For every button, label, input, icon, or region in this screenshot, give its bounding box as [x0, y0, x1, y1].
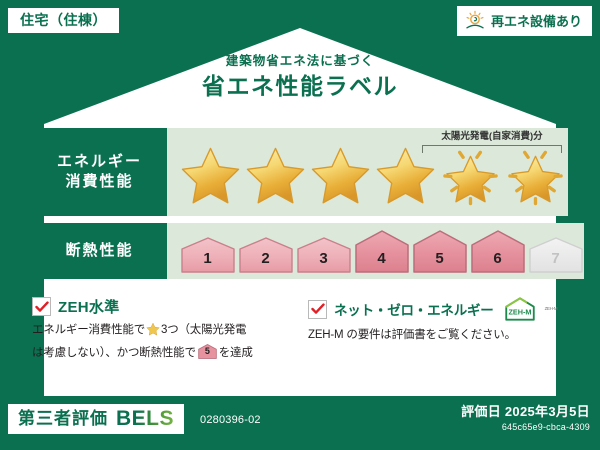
title-main: 省エネ性能ラベル	[0, 72, 600, 102]
check-icon	[311, 303, 325, 315]
dwelling-type-tag: 住宅（住棟）	[8, 8, 119, 33]
house-badge-number: 5	[198, 345, 217, 359]
solar-generation-bracket: 太陽光発電(自家消費)分	[422, 132, 562, 153]
house-level-7: 7	[527, 236, 584, 274]
house-level-number: 4	[353, 250, 410, 267]
house-level-4: 4	[353, 229, 410, 274]
star-rating	[167, 144, 567, 206]
house-level-3: 3	[295, 236, 352, 274]
net-zero-energy-column: ネット・ゼロ・エネルギー ZEH-M ZEH-M ZEH-M の要件は評価書をご…	[292, 296, 568, 363]
evaluation-info: 評価日 2025年3月5日 645c65e9-cbca-4309	[461, 404, 590, 434]
house-level-number: 3	[295, 250, 352, 267]
zeh-m-logo-icon: ZEH-M	[503, 296, 537, 322]
zeh-m-trademark: ZEH-M	[545, 306, 558, 311]
energy-label-line1: エネルギー	[57, 152, 142, 172]
label-title-block: 建築物省エネ法に基づく 省エネ性能ラベル	[0, 54, 600, 102]
house-badge-icon: 5	[198, 343, 217, 360]
house-level-6: 6	[469, 229, 526, 274]
star-solar-icon	[439, 144, 502, 206]
renewable-equipment-badge: 再エネ設備あり	[457, 6, 592, 36]
house-level-number: 7	[527, 250, 584, 267]
star-solar-icon	[504, 144, 567, 206]
insulation-house-scale: 1 2 3	[167, 223, 584, 279]
evaluation-id: 645c65e9-cbca-4309	[461, 422, 590, 434]
insulation-performance-row: 断熱性能 1	[32, 223, 568, 279]
bels-jp-label: 第三者評価	[18, 410, 108, 427]
zeh-standard-checkbox[interactable]	[32, 297, 51, 316]
energy-rating-area: 太陽光発電(自家消費)分	[167, 128, 568, 216]
svg-text:ZEH-M: ZEH-M	[508, 307, 531, 316]
net-zero-energy-title: ネット・ゼロ・エネルギー	[334, 299, 494, 319]
star-icon	[179, 144, 242, 206]
bels-certification-box: 第三者評価 BELS	[8, 404, 184, 434]
house-level-5: 5	[411, 229, 468, 274]
house-level-number: 5	[411, 250, 468, 267]
insulation-label-text: 断熱性能	[65, 241, 133, 261]
renewable-badge-label: 再エネ設備あり	[491, 15, 582, 28]
title-subtitle: 建築物省エネ法に基づく	[0, 54, 600, 69]
zeh-desc-part-c: は考慮しない）、かつ断熱性能で	[32, 347, 196, 359]
energy-label-line2: 消費性能	[65, 172, 133, 192]
zeh-standard-title: ZEH水準	[58, 296, 120, 317]
star-icon	[146, 322, 160, 343]
insulation-rating-area: 1 2 3	[167, 223, 584, 279]
solar-generation-note: 太陽光発電(自家消費)分	[422, 132, 562, 142]
zeh-standard-description: エネルギー消費性能で3つ（太陽光発電は考慮しない）、かつ断熱性能で5を達成	[32, 322, 284, 363]
net-zero-energy-header: ネット・ゼロ・エネルギー ZEH-M ZEH-M	[308, 296, 560, 322]
energy-performance-row: エネルギー 消費性能 太陽光発電(自家消費)分	[32, 128, 568, 216]
bracket-line	[422, 145, 562, 153]
net-zero-energy-checkbox[interactable]	[308, 300, 327, 319]
net-zero-energy-description: ZEH-M の要件は評価書をご覧ください。	[308, 327, 560, 345]
house-level-number: 6	[469, 250, 526, 267]
performance-rows: エネルギー 消費性能 太陽光発電(自家消費)分	[32, 128, 568, 286]
label-footer: 第三者評価 BELS 0280396-02 評価日 2025年3月5日 645c…	[0, 396, 600, 450]
zeh-standard-column: ZEH水準 エネルギー消費性能で3つ（太陽光発電は考慮しない）、かつ断熱性能で5…	[32, 296, 292, 363]
zeh-desc-part-d: を達成	[219, 347, 253, 359]
evaluation-date: 評価日 2025年3月5日	[461, 404, 590, 420]
zeh-desc-part-b: 3つ（太陽光発電	[161, 324, 246, 336]
zeh-desc-part-a: エネルギー消費性能で	[32, 324, 145, 336]
star-icon	[244, 144, 307, 206]
star-icon	[374, 144, 437, 206]
bels-certificate-number: 0280396-02	[200, 414, 261, 426]
star-icon	[309, 144, 372, 206]
energy-performance-label: エネルギー 消費性能	[32, 128, 167, 216]
house-level-2: 2	[237, 236, 294, 274]
check-icon	[35, 301, 49, 313]
energy-performance-label: 住宅（住棟） 再エネ設備あり 建築物省エネ法に基づく 省エネ性能ラベル	[0, 0, 600, 450]
house-level-1: 1	[179, 236, 236, 274]
zeh-section: ZEH水準 エネルギー消費性能で3つ（太陽光発電は考慮しない）、かつ断熱性能で5…	[32, 296, 568, 363]
zeh-standard-header: ZEH水準	[32, 296, 284, 317]
house-level-number: 2	[237, 250, 294, 267]
sun-icon	[464, 10, 486, 32]
insulation-performance-label: 断熱性能	[32, 223, 167, 279]
house-level-number: 1	[179, 250, 236, 267]
bels-logo-text: BELS	[116, 408, 174, 429]
